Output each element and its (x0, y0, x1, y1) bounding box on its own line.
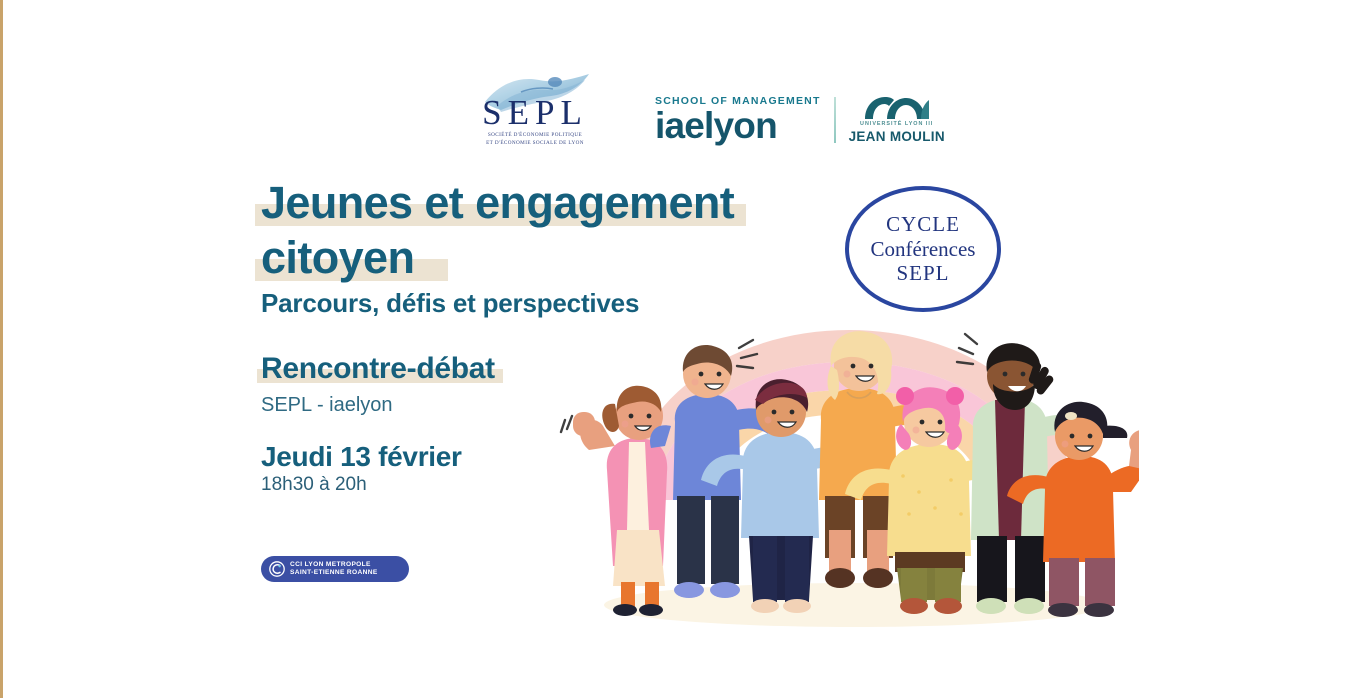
jean-moulin-logo: UNIVERSITÉ LYON III JEAN MOULIN (849, 95, 945, 144)
cci-text: CCI LYON METROPOLE SAINT-ETIENNE ROANNE (290, 561, 378, 577)
event-organizers: SEPL - iaelyon (261, 394, 393, 417)
event-time: 18h30 à 20h (261, 474, 367, 496)
cci-partner-badge: CCI LYON METROPOLE SAINT-ETIENNE ROANNE (261, 556, 409, 582)
logo-row: SEPL SOCIÉTÉ D'ÉCONOMIE POLITIQUE ET D'É… (471, 82, 945, 148)
event-type: Rencontre-débat (261, 352, 495, 386)
sepl-tagline: SOCIÉTÉ D'ÉCONOMIE POLITIQUE ET D'ÉCONOM… (473, 132, 597, 148)
cci-line-2: SAINT-ETIENNE ROANNE (290, 569, 378, 577)
iaelyon-logo: SCHOOL OF MANAGEMENT iaelyon UNIVERSITÉ … (655, 95, 945, 144)
event-poster: SEPL SOCIÉTÉ D'ÉCONOMIE POLITIQUE ET D'É… (0, 0, 1352, 698)
iaelyon-text: SCHOOL OF MANAGEMENT iaelyon (655, 95, 821, 143)
sepl-wordmark: SEPL (482, 95, 588, 130)
badge-line-3: SEPL (896, 261, 949, 286)
sepl-tagline-line2: ET D'ÉCONOMIE SOCIALE DE LYON (473, 140, 597, 148)
badge-line-2: Conférences (871, 237, 976, 262)
jean-moulin-wordmark: JEAN MOULIN (849, 129, 945, 144)
headline-line-1: Jeunes et engagement (261, 176, 734, 231)
group-of-young-people-illustration (559, 300, 1139, 630)
iaelyon-wordmark: iaelyon (655, 108, 777, 143)
headline-line-2: citoyen (261, 231, 414, 286)
cci-line-1: CCI LYON METROPOLE (290, 561, 378, 569)
headline-block: Jeunes et engagement citoyen (261, 176, 841, 286)
jean-moulin-university: UNIVERSITÉ LYON III (860, 121, 933, 127)
arch-icon (863, 95, 931, 119)
event-date: Jeudi 13 février (261, 441, 462, 473)
sepl-logo: SEPL SOCIÉTÉ D'ÉCONOMIE POLITIQUE ET D'É… (471, 76, 599, 148)
person-pink-blazer (561, 386, 667, 616)
cycle-conferences-badge: CYCLE Conférences SEPL (845, 186, 1001, 312)
badge-line-1: CYCLE (886, 212, 960, 237)
logo-divider (834, 97, 836, 143)
cci-monogram-icon (269, 561, 285, 577)
